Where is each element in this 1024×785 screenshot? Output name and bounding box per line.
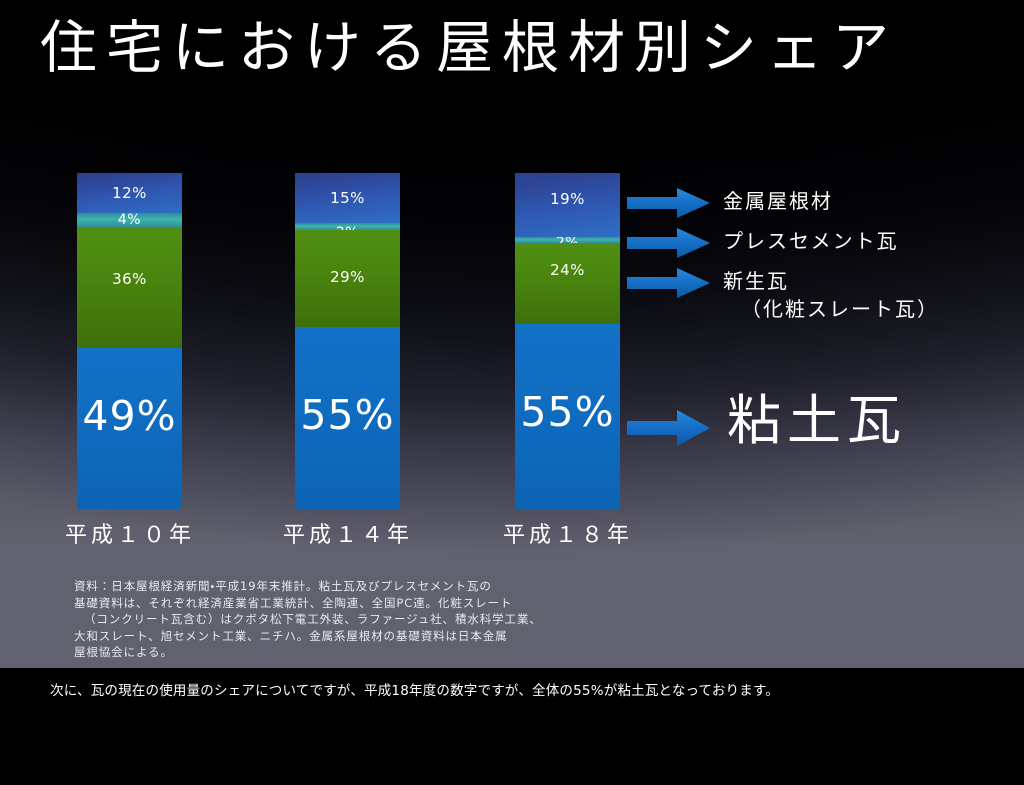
source-footnote: 資料：日本屋根経済新聞・平成19年末推計。粘土瓦及びプレスセメント瓦の 基礎資料… [74,578,654,661]
bar-group-1: 12% 4% 36% 49% 平成１０年 [77,173,182,509]
arrow-right-icon [627,228,710,258]
footnote-line-2: 基礎資料は、それぞれ経済産業省工業統計、全陶連、全国PC連。化粧スレート [74,595,654,612]
stacked-bar-chart: 12% 4% 36% 49% 平成１０年 [0,0,1024,668]
bar-segment-metal[interactable]: 19% [515,173,620,237]
footnote-line-4: 大和スレート、旭セメント工業、ニチハ。金属系屋根材の基礎資料は日本金属 [74,628,654,645]
bar-segment-metal-label: 19% [550,190,585,208]
bar-segment-slate-label: 29% [330,268,365,286]
callout-slate-label: 新生瓦 （化粧スレート瓦） [723,267,939,323]
bar-segment-slate[interactable]: 24% [515,243,620,324]
bar-segment-clay-label: 55% [295,391,400,439]
bar-axis-label-2: 平成１４年 [248,517,448,549]
bar-stack-2: 15% 2% 29% 55% [295,173,400,509]
bar-stack-1: 12% 4% 36% 49% [77,173,182,509]
callout-clay: 粘土瓦 [627,398,1007,478]
bar-segment-slate[interactable]: 29% [295,230,400,327]
bar-group-3: 19% 2% 24% 55% 平成１８年 [515,173,620,509]
bar-segment-clay-label: 49% [77,392,182,440]
bar-segment-cement-label: 2% [556,237,579,244]
bar-group-2: 15% 2% 29% 55% 平成１４年 [295,173,400,509]
callout-cement-label: プレスセメント瓦 [723,228,899,254]
bar-segment-metal[interactable]: 15% [295,173,400,223]
bar-stack-3: 19% 2% 24% 55% [515,173,620,509]
caption-bar: 次に、瓦の現在の使用量のシェアについてですが、平成18年度の数字ですが、全体の5… [0,668,1024,785]
bar-segment-cement[interactable]: 4% [77,213,182,226]
callout-slate-label-sub: （化粧スレート瓦） [723,295,939,323]
bar-segment-cement[interactable]: 2% [515,237,620,244]
arrow-right-icon [627,410,710,446]
slide-stage: 住宅における屋根材別シェア 12% 4% 36% 49% [0,0,1024,785]
bar-segment-clay[interactable]: 55% [295,327,400,509]
callout-cement: プレスセメント瓦 [627,228,997,262]
bar-segment-metal-label: 15% [330,189,365,207]
bar-segment-metal[interactable]: 12% [77,173,182,213]
bar-segment-slate-label: 24% [550,261,585,279]
callout-metal-label: 金属屋根材 [723,188,833,214]
bar-axis-label-3: 平成１８年 [468,517,668,549]
footnote-line-3: （コンクリート瓦含む）はクボタ松下電工外装、ラファージュ社、積水科学工業、 [74,611,654,628]
footnote-line-5: 屋根協会による。 [74,644,654,661]
callout-slate-label-main: 新生瓦 [723,269,789,293]
caption-text: 次に、瓦の現在の使用量のシェアについてですが、平成18年度の数字ですが、全体の5… [50,679,779,699]
footnote-line-1: 資料：日本屋根経済新聞・平成19年末推計。粘土瓦及びプレスセメント瓦の [74,578,654,595]
arrow-right-icon [627,188,710,218]
bar-segment-cement[interactable]: 2% [295,223,400,230]
bar-segment-slate[interactable]: 36% [77,227,182,348]
presentation-slide: 住宅における屋根材別シェア 12% 4% 36% 49% [0,0,1024,668]
bar-segment-clay-label: 55% [515,388,620,436]
callout-slate: 新生瓦 （化粧スレート瓦） [627,268,1007,330]
arrow-right-icon [627,268,710,298]
bar-segment-slate-label: 36% [112,270,147,288]
bar-segment-cement-label: 4% [118,213,141,226]
bar-segment-clay[interactable]: 49% [77,348,182,509]
callout-metal: 金属屋根材 [627,188,997,222]
callout-clay-label: 粘土瓦 [727,390,907,452]
bar-segment-metal-label: 12% [112,184,147,202]
bar-axis-label-1: 平成１０年 [30,517,230,549]
bar-segment-clay[interactable]: 55% [515,324,620,509]
